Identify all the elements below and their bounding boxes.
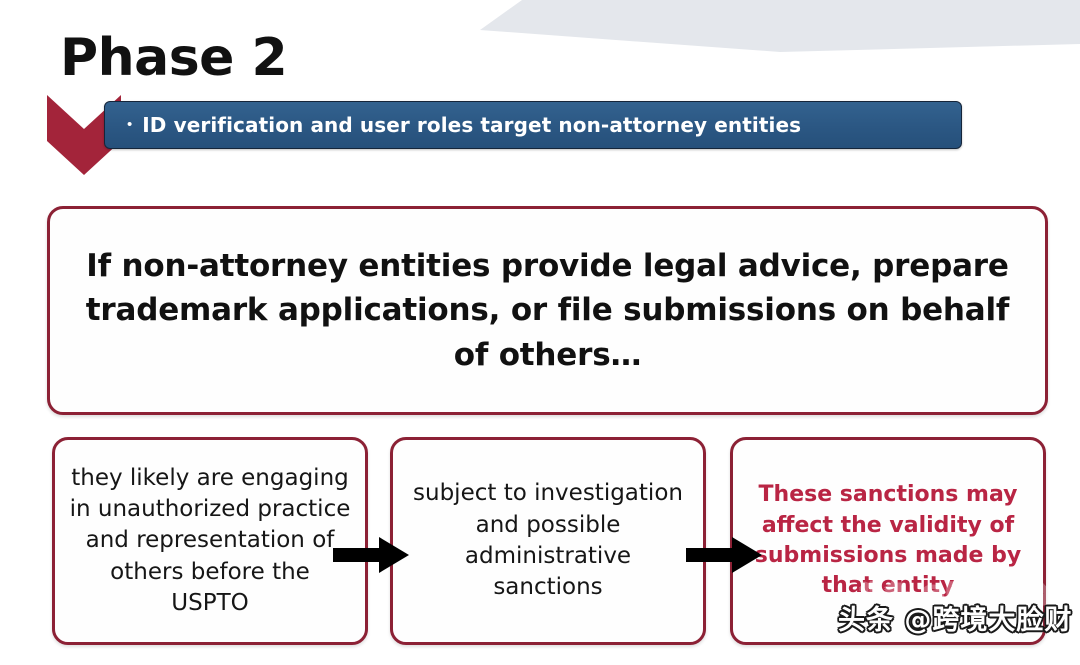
flow-box-text: they likely are engaging in unauthorized…: [69, 463, 351, 619]
flow-box-unauthorized-practice: they likely are engaging in unauthorized…: [52, 437, 368, 645]
page-title: Phase 2: [60, 32, 287, 84]
bullet-icon: •: [127, 117, 132, 132]
flow-arrow-right-icon: [686, 537, 762, 573]
phase-banner-label: ID verification and user roles target no…: [142, 113, 801, 137]
flow-arrow-right-icon: [333, 537, 409, 573]
phase-banner[interactable]: • ID verification and user roles target …: [104, 101, 962, 149]
watermark: 头条 @跨境大脸财: [838, 598, 1072, 637]
flow-box-investigation-sanctions: subject to investigation and possible ad…: [390, 437, 706, 645]
slide-canvas: Phase 2 • ID verification and user roles…: [0, 0, 1080, 665]
main-statement-box: If non-attorney entities provide legal a…: [47, 206, 1048, 415]
main-statement-text: If non-attorney entities provide legal a…: [84, 244, 1011, 376]
flow-box-text: subject to investigation and possible ad…: [407, 478, 689, 603]
diagonal-gray-band-icon: [480, 0, 1080, 60]
